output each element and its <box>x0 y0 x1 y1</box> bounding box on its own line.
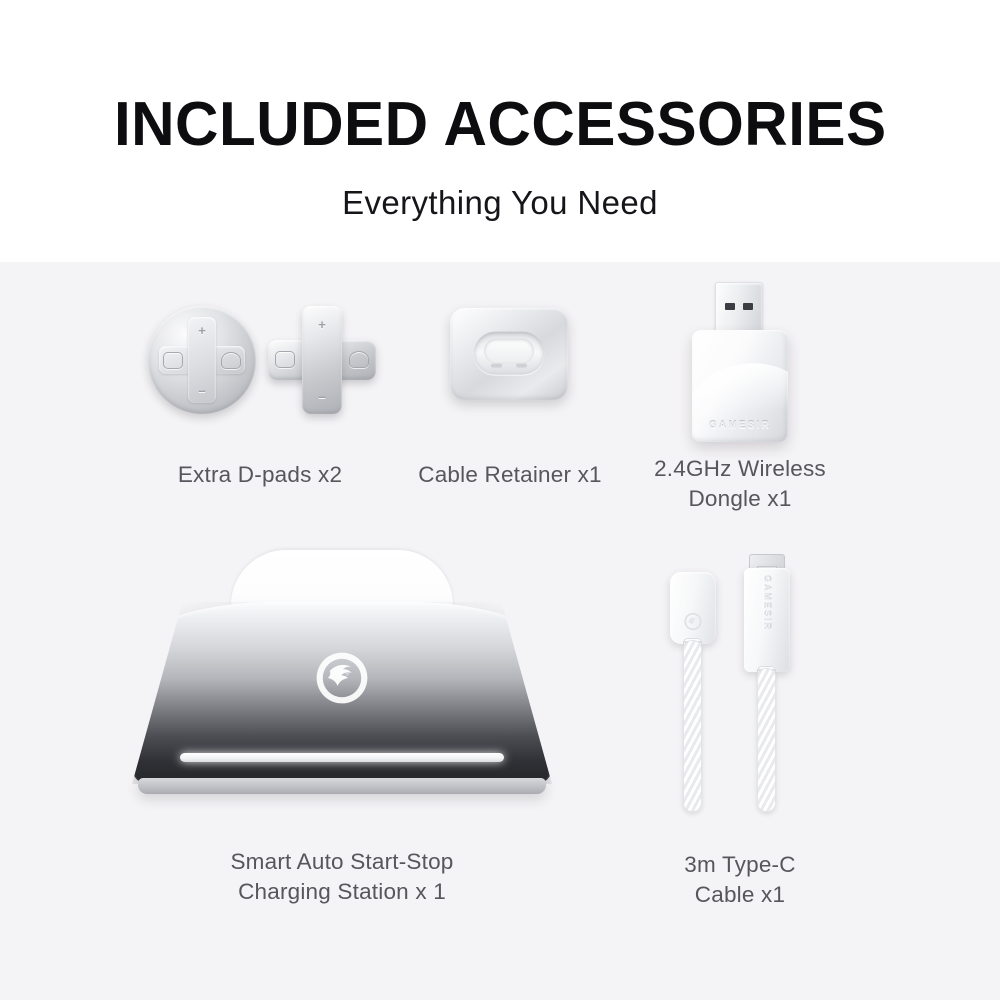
accessory-type-c-cable: GAMESIR <box>660 554 830 814</box>
usb-c-eagle-logo-icon <box>684 612 703 631</box>
header-banner: INCLUDED ACCESSORIES Everything You Need <box>0 0 1000 262</box>
usb-c-connector <box>670 572 716 644</box>
usb-pin-right <box>743 303 753 310</box>
retainer-slot <box>474 332 544 375</box>
caption-extra-dpads: Extra D-pads x2 <box>100 460 420 490</box>
station-base-plate <box>138 778 546 794</box>
accessory-charging-station <box>132 550 552 812</box>
cross-dpad-icon: + – <box>268 306 376 414</box>
caption-charging-station: Smart Auto Start-Stop Charging Station x… <box>182 847 502 906</box>
retainer-tab-left <box>491 364 502 368</box>
usb-a-connector: GAMESIR <box>744 568 790 672</box>
caption-wireless-dongle: 2.4GHz Wireless Dongle x1 <box>620 454 860 513</box>
cross-dpad-vertical-arm <box>302 306 342 414</box>
dongle-usb-connector <box>715 282 763 334</box>
usb-pin-left <box>725 303 735 310</box>
cable-brand-label: GAMESIR <box>762 575 772 631</box>
accessories-gallery: + – + – Extra D-pads x2 <box>0 262 1000 1000</box>
accessory-wireless-dongle: GAMESIR <box>690 282 800 442</box>
disc-dpad-vertical-arm <box>188 317 216 403</box>
dongle-highlight <box>692 354 788 426</box>
page-title: INCLUDED ACCESSORIES <box>114 94 887 156</box>
disc-dpad-icon: + – <box>148 306 256 414</box>
accessory-extra-dpads: + – + – <box>140 300 380 430</box>
retainer-tab-right <box>516 364 527 368</box>
gamesir-eagle-logo-icon <box>314 650 370 706</box>
retainer-hole <box>484 338 534 363</box>
station-led-strip <box>180 753 504 762</box>
cable-retainer-icon <box>450 308 568 400</box>
disc-dpad-cross: + – <box>159 317 245 403</box>
caption-cable-retainer: Cable Retainer x1 <box>380 460 640 490</box>
dongle-body: GAMESIR <box>692 330 788 442</box>
cable-braid-right <box>757 668 776 812</box>
accessory-cable-retainer <box>450 308 570 418</box>
page-subtitle: Everything You Need <box>342 184 658 222</box>
cable-braid-left <box>683 640 702 812</box>
dongle-brand-label: GAMESIR <box>692 420 788 431</box>
caption-type-c-cable: 3m Type-C Cable x1 <box>620 850 860 909</box>
